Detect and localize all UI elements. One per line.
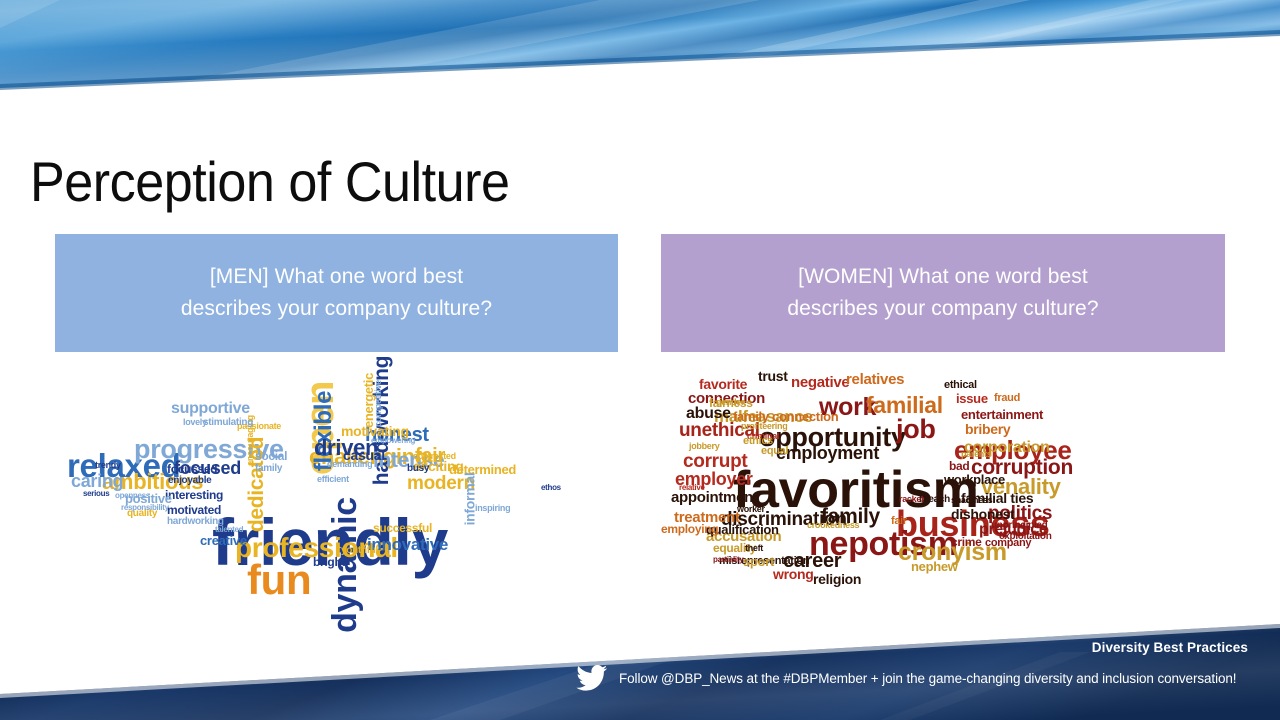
panel-men: [MEN] What one word best describes your …	[55, 234, 618, 624]
cloud-word: crookedness	[807, 521, 859, 530]
cloud-word: supportive	[171, 401, 250, 417]
slide-canvas: Perception of Culture [MEN] What one wor…	[0, 0, 1280, 720]
cloud-word: bad	[949, 460, 969, 472]
cloud-word: crime	[951, 536, 982, 548]
panel-women: [WOMEN] What one word best describes you…	[661, 234, 1225, 624]
cloud-word: competitive	[374, 380, 383, 427]
panel-header-men: [MEN] What one word best describes your …	[55, 234, 618, 352]
cloud-word: parents	[961, 450, 991, 459]
cloud-word: informal	[462, 473, 476, 526]
footer-brand: Diversity Best Practices	[1092, 640, 1248, 655]
cloud-word: caring	[71, 472, 123, 490]
cloud-word: jobbery	[689, 442, 719, 451]
cloud-word: negative	[791, 375, 849, 390]
cloud-word: empowering	[371, 437, 415, 445]
twitter-bird-icon[interactable]	[575, 664, 609, 692]
panel-header-men-line2: describes your company culture?	[181, 293, 492, 325]
cloud-word: employment	[776, 444, 879, 462]
cloud-word: bribery	[965, 422, 1010, 436]
cloud-word: innovative	[367, 536, 448, 553]
cloud-word: gender	[716, 398, 744, 407]
cloud-word: trendy	[95, 461, 121, 470]
cloud-word: enjoyable	[168, 476, 211, 486]
cloud-word: responsibility	[121, 504, 169, 512]
men-word-cloud: friendlyrelaxedopendynamicfunprofessiona…	[55, 364, 618, 624]
cloud-word: talented	[215, 526, 243, 534]
cloud-word: sport	[743, 555, 774, 568]
cloud-word: fraud	[994, 393, 1020, 404]
footer-band: Diversity Best Practices Follow @DBP_New…	[0, 610, 1280, 720]
cloud-word: determined	[449, 463, 516, 476]
cloud-word: interesting	[165, 489, 223, 501]
footer-message: Follow @DBP_News at the #DBPMember + joi…	[619, 671, 1236, 686]
cloud-word: family	[255, 464, 282, 474]
cloud-word: worker	[737, 505, 765, 514]
page-title: Perception of Culture	[30, 151, 509, 214]
blue-diagonal-banner	[0, 0, 1280, 104]
cloud-word: appointment	[671, 490, 758, 505]
cloud-word: favorite	[699, 377, 747, 391]
panel-header-women-line2: describes your company culture?	[787, 293, 1098, 325]
cloud-word: entertainment	[961, 408, 1043, 421]
cloud-word: workplace	[944, 473, 1005, 486]
panel-header-men-line1: [MEN] What one word best	[181, 261, 492, 293]
cloud-word: issue	[956, 392, 988, 405]
cloud-word: equal	[761, 446, 788, 457]
cloud-word: nephew	[911, 560, 958, 573]
cloud-word: motivated	[167, 504, 221, 516]
cloud-word: profiteering	[741, 422, 787, 431]
cloud-word: demanding	[327, 460, 372, 469]
cloud-word: youthful	[341, 546, 378, 556]
cloud-word: bright	[313, 556, 345, 568]
cloud-word: openness	[115, 492, 150, 500]
cloud-word: busy	[407, 464, 429, 474]
cloud-word: exploitation	[999, 532, 1052, 542]
cloud-word: creative	[200, 534, 247, 547]
cloud-word: ethos	[541, 484, 561, 492]
cloud-word: successful	[373, 522, 432, 534]
cloud-word: shadiness	[951, 496, 992, 505]
cloud-word: inspiring	[475, 504, 510, 513]
footer-social-line: Follow @DBP_News at the #DBPMember + joi…	[575, 664, 1236, 692]
cloud-word: trust	[758, 369, 788, 383]
cloud-word: focussed	[167, 463, 217, 475]
cloud-word: efficient	[317, 475, 349, 484]
women-word-cloud: favoritismbusinessnepotismopportunityemp…	[661, 364, 1225, 624]
cloud-word: fun	[247, 559, 311, 601]
cloud-word: relatives	[846, 372, 904, 387]
cloud-word: employing	[661, 523, 718, 535]
cloud-word: fair	[891, 516, 907, 527]
cloud-word: partiality	[713, 556, 743, 564]
cloud-word: social	[255, 450, 287, 462]
cloud-word: ethical	[944, 380, 977, 391]
cloud-word: relative	[679, 484, 705, 492]
cloud-word: familial	[866, 394, 943, 417]
panel-header-women-line1: [WOMEN] What one word best	[787, 261, 1098, 293]
cloud-word: theft	[745, 544, 763, 553]
cloud-word: wrong	[773, 567, 814, 581]
cloud-word: serious	[83, 490, 109, 498]
cloud-word: job	[896, 416, 936, 443]
cloud-word: religion	[813, 572, 861, 586]
cloud-word: stimulating	[203, 418, 253, 428]
cloud-word: lovely	[183, 418, 207, 427]
cloud-word: unprincipled	[991, 521, 1047, 531]
panel-header-women: [WOMEN] What one word best describes you…	[661, 234, 1225, 352]
cloud-word: committed	[413, 452, 456, 461]
cloud-word: racket	[899, 495, 924, 504]
cloud-word: dishonest	[951, 507, 1014, 521]
